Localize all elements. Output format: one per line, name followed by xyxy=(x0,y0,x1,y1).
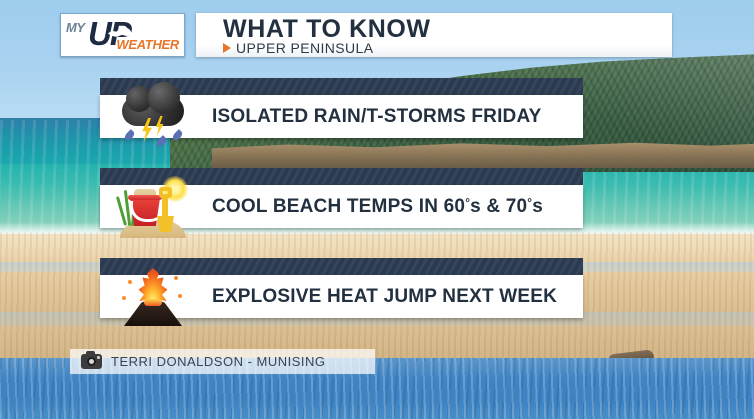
page-subtitle: UPPER PENINSULA xyxy=(236,41,373,55)
logo-my-text: MY xyxy=(66,21,85,34)
thunderstorm-icon xyxy=(114,90,192,156)
triangle-right-icon xyxy=(223,43,231,53)
volcano-icon xyxy=(114,262,192,328)
headline-item-3: EXPLOSIVE HEAT JUMP NEXT WEEK xyxy=(100,258,583,318)
logo-weather-text: WEATHER xyxy=(116,38,179,51)
headline-text-3: EXPLOSIVE HEAT JUMP NEXT WEEK xyxy=(212,286,557,308)
title-bar: WHAT TO KNOW UPPER PENINSULA xyxy=(196,13,672,57)
photo-credit-text: TERRI DONALDSON - MUNISING xyxy=(111,354,326,369)
subtitle-row: UPPER PENINSULA xyxy=(223,41,373,55)
headline-text-2: COOL BEACH TEMPS IN 60°s & 70°s xyxy=(212,196,543,218)
headline-2-suffix: s xyxy=(532,196,543,217)
beach-bucket-icon xyxy=(114,174,192,240)
photo-credit: TERRI DONALDSON - MUNISING xyxy=(70,349,375,374)
headline-2-mid: s & 70 xyxy=(470,196,527,217)
headline-item-1: ISOLATED RAIN/T-STORMS FRIDAY xyxy=(100,78,583,138)
camera-icon xyxy=(81,354,102,369)
headline-2-prefix: COOL BEACH TEMPS IN 60 xyxy=(212,196,465,217)
headline-text-1: ISOLATED RAIN/T-STORMS FRIDAY xyxy=(212,106,542,128)
station-logo[interactable]: MY UP WEATHER xyxy=(60,13,185,57)
headline-item-2: COOL BEACH TEMPS IN 60°s & 70°s xyxy=(100,168,583,228)
weather-graphic: MY UP WEATHER WHAT TO KNOW UPPER PENINSU… xyxy=(0,0,754,419)
